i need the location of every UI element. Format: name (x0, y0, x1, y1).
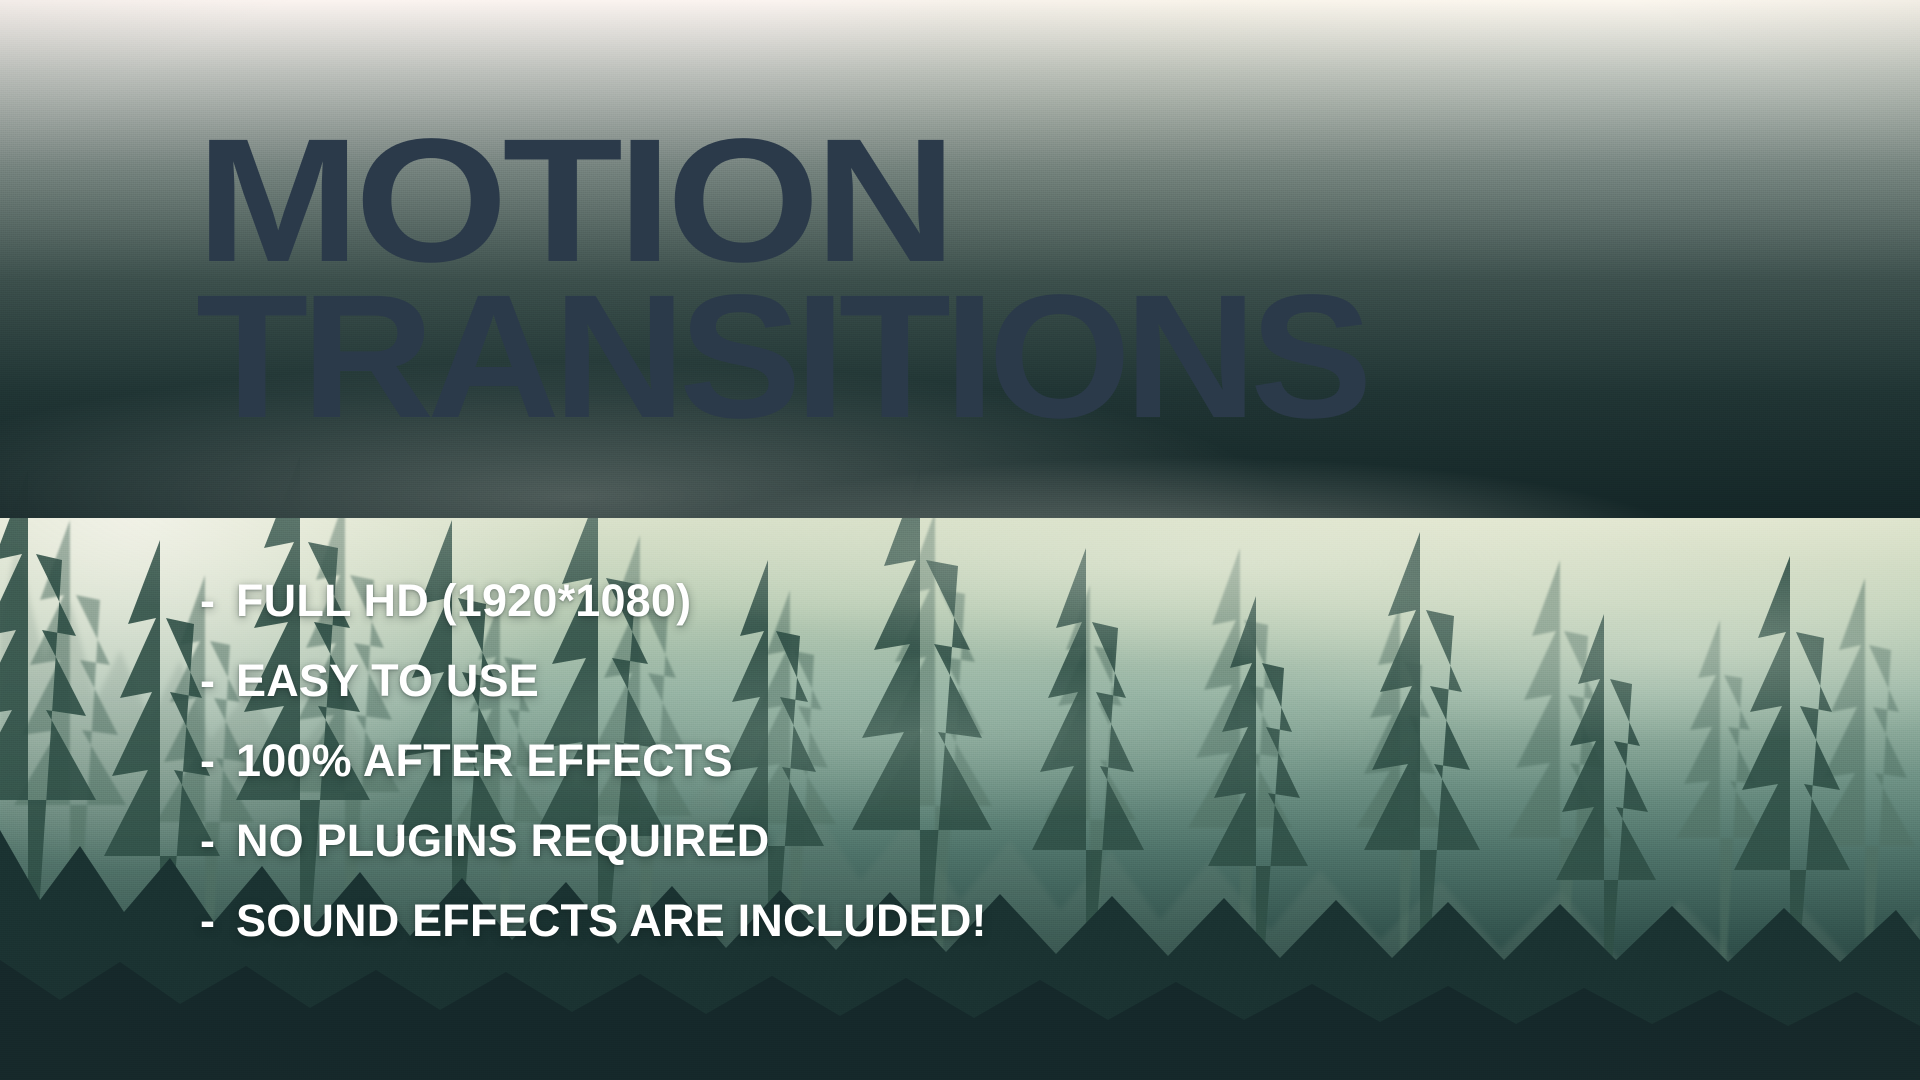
feature-label: 100% AFTER EFFECTS (236, 735, 733, 787)
headline-title: MOTION TRANSITIONS (196, 128, 1696, 432)
feature-label: EASY TO USE (236, 655, 539, 707)
bullet-dash-icon: - (200, 655, 236, 707)
bullet-dash-icon: - (200, 735, 236, 787)
feature-item-no-plugins: - NO PLUGINS REQUIRED (200, 815, 1400, 895)
slide-canvas: MOTION TRANSITIONS - FULL HD (1920*1080)… (0, 0, 1920, 1080)
feature-item-easy-to-use: - EASY TO USE (200, 655, 1400, 735)
feature-item-full-hd: - FULL HD (1920*1080) (200, 575, 1400, 655)
bullet-dash-icon: - (200, 575, 236, 627)
bullet-dash-icon: - (200, 815, 236, 867)
feature-label: SOUND EFFECTS ARE INCLUDED! (236, 895, 987, 947)
headline-line-two: TRANSITIONS (196, 284, 1763, 432)
feature-item-after-effects: - 100% AFTER EFFECTS (200, 735, 1400, 815)
bullet-dash-icon: - (200, 895, 236, 947)
feature-label: FULL HD (1920*1080) (236, 575, 691, 627)
feature-list: - FULL HD (1920*1080) - EASY TO USE - 10… (200, 575, 1400, 975)
feature-label: NO PLUGINS REQUIRED (236, 815, 769, 867)
feature-item-sound-effects: - SOUND EFFECTS ARE INCLUDED! (200, 895, 1400, 975)
headline-line-one: MOTION (196, 128, 1876, 276)
